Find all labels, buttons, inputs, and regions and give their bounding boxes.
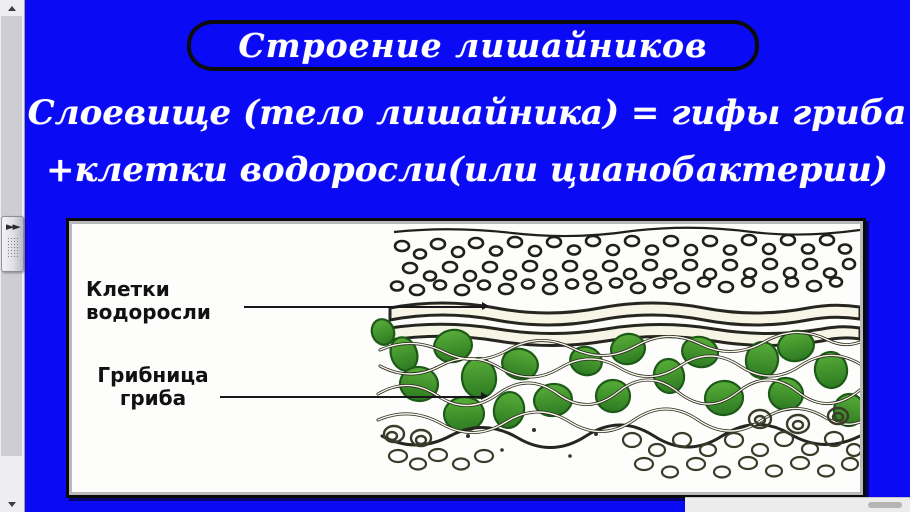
- label-fungal-mycelium: Грибница гриба: [78, 364, 228, 410]
- leader-arrow-hyphae: [481, 392, 488, 400]
- scroll-thumb[interactable]: [868, 502, 902, 508]
- grip-dots-icon: [7, 237, 18, 259]
- headline-line-2: +клетки водоросли(или цианобактерии): [24, 150, 910, 190]
- scroll-down-button[interactable]: [1, 496, 22, 512]
- double-chevron-right-icon: ►►: [6, 221, 19, 232]
- presentation-slide-screen: Строение лишайников Слоевище (тело лишай…: [0, 0, 910, 512]
- label-algae-cells-line2: водоросли: [86, 301, 211, 324]
- leader-arrow-algae: [482, 302, 489, 310]
- label-fungal-mycelium-line2: гриба: [78, 387, 228, 410]
- leader-line-hyphae: [220, 396, 485, 398]
- headline-line-1: Слоевище (тело лишайника) = гифы гриба: [24, 93, 910, 133]
- label-fungal-mycelium-line1: Грибница: [78, 364, 228, 387]
- label-algae-cells-line1: Клетки: [86, 278, 211, 301]
- pane-splitter-handle[interactable]: ►►: [1, 216, 24, 272]
- scroll-up-button[interactable]: [1, 0, 22, 16]
- label-algae-cells: Клетки водоросли: [86, 278, 211, 324]
- lichen-cross-section-image[interactable]: Клетки водоросли Грибница гриба: [66, 218, 866, 498]
- triangle-up-icon: [8, 6, 16, 11]
- outline-pane-scrollbar[interactable]: ►►: [0, 0, 25, 512]
- leader-line-algae: [244, 306, 486, 308]
- bottom-status-bar[interactable]: [685, 497, 910, 512]
- triangle-down-icon: [8, 502, 16, 507]
- page-title: Строение лишайников: [187, 20, 759, 71]
- lichen-anatomy-illustration: [72, 224, 860, 492]
- picture-canvas: Клетки водоросли Грибница гриба: [72, 224, 860, 492]
